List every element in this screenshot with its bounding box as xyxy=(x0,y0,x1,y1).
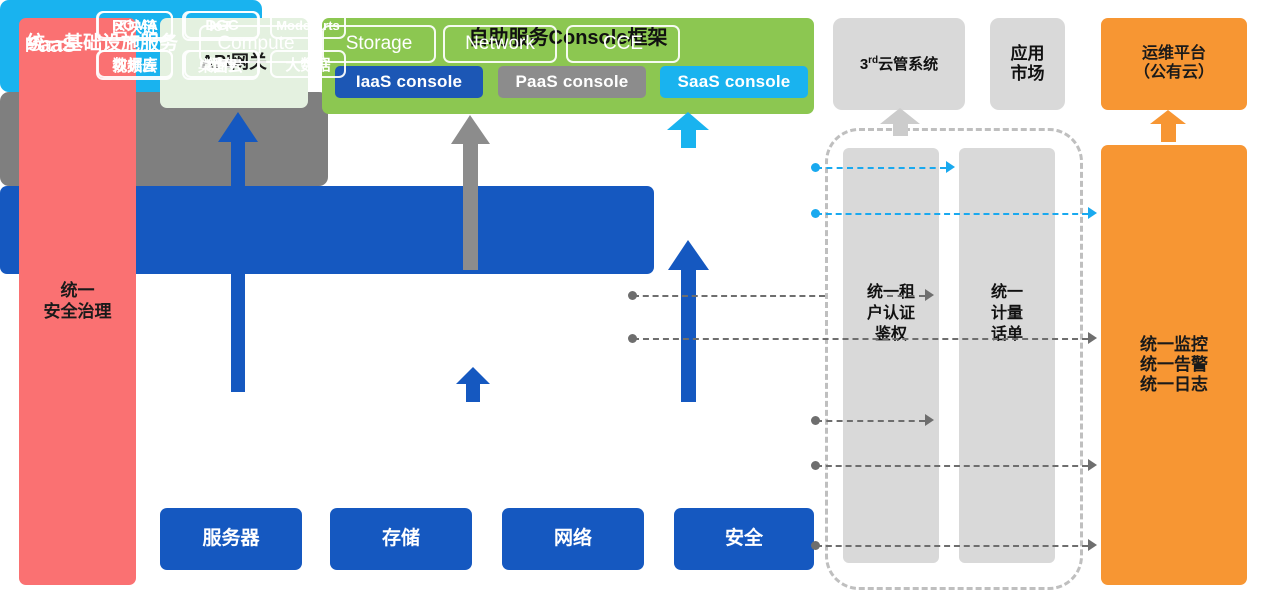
arrow-infra-to-saas xyxy=(668,240,709,402)
dashed-arrowhead-infra-to-auth xyxy=(925,414,934,426)
app-market-line2: 市场 xyxy=(1011,64,1045,84)
infra-chip-cce[interactable]: CCE xyxy=(566,25,680,63)
ops-platform-public-cloud-box: 运维平台 （公有云） xyxy=(1101,18,1247,110)
security-panel-line2: 安全治理 xyxy=(44,302,112,322)
arrow-saas-to-console xyxy=(667,112,709,148)
dashed-line-infra-to-auth xyxy=(816,420,925,422)
unified-metering-label: 统一 计量 话单 xyxy=(959,283,1055,345)
dashed-line-auth-segment-1 xyxy=(887,295,925,297)
dashed-arrowhead-paas-to-auth xyxy=(925,289,934,301)
infra-chip-storage[interactable]: Storage xyxy=(322,25,436,63)
hardware-box-security: 安全 xyxy=(674,508,814,570)
hardware-box-storage: 存储 xyxy=(330,508,472,570)
infra-chip-compute[interactable]: Compute xyxy=(199,25,313,63)
ops-main-line1: 统一监控 xyxy=(1140,335,1208,355)
ops-top-line2: （公有云） xyxy=(1134,64,1214,83)
app-market-box: 应用 市场 xyxy=(990,18,1065,110)
dashed-arrowhead-paas-to-ops xyxy=(1088,332,1097,344)
dashed-arrowhead-saas-to-auth xyxy=(946,161,955,173)
ops-top-line1: 运维平台 xyxy=(1134,45,1214,64)
security-panel-line1: 统一 xyxy=(44,281,112,301)
hardware-box-server: 服务器 xyxy=(160,508,302,570)
dashed-arrowhead-saas-to-ops xyxy=(1088,207,1097,219)
paas-console-chip[interactable]: PaaS console xyxy=(498,66,646,98)
saas-console-chip[interactable]: SaaS console xyxy=(660,66,808,98)
third-party-cloud-management-box: 3rd云管系统 xyxy=(833,18,965,110)
unified-monitoring-panel: 统一监控 统一告警 统一日志 xyxy=(1101,145,1247,585)
dashed-line-saas-to-ops xyxy=(816,213,1088,215)
hardware-box-network: 网络 xyxy=(502,508,644,570)
app-market-line1: 应用 xyxy=(1011,44,1045,64)
dashed-line-infra-to-ops xyxy=(816,465,1088,467)
unified-security-governance-panel: 统一 安全治理 xyxy=(19,18,136,585)
arrow-infra-to-paas xyxy=(456,367,490,402)
dashed-line-paas-to-auth xyxy=(633,295,825,297)
unified-tenant-auth-column xyxy=(843,148,939,563)
ops-main-line3: 统一日志 xyxy=(1140,375,1208,395)
infrastructure-label: 统一基础设施服务 xyxy=(12,28,192,55)
infra-chip-network[interactable]: Network xyxy=(443,25,557,63)
dashed-arrowhead-infra-to-ops xyxy=(1088,459,1097,471)
iaas-console-chip[interactable]: IaaS console xyxy=(335,66,483,98)
ops-main-line2: 统一告警 xyxy=(1140,355,1208,375)
dashed-line-paas-to-ops xyxy=(633,338,1088,340)
dashed-line-hardware-to-ops xyxy=(816,545,1088,547)
unified-metering-column xyxy=(959,148,1055,563)
architecture-diagram: 统一 安全治理 API网关 自助服务Console框架 IaaS console… xyxy=(0,0,1265,605)
third-party-label: 3rd云管系统 xyxy=(860,55,938,74)
dashed-line-saas-to-auth xyxy=(816,167,946,169)
dashed-arrowhead-hardware-to-ops xyxy=(1088,539,1097,551)
arrow-to-ops-platform xyxy=(1150,110,1186,142)
